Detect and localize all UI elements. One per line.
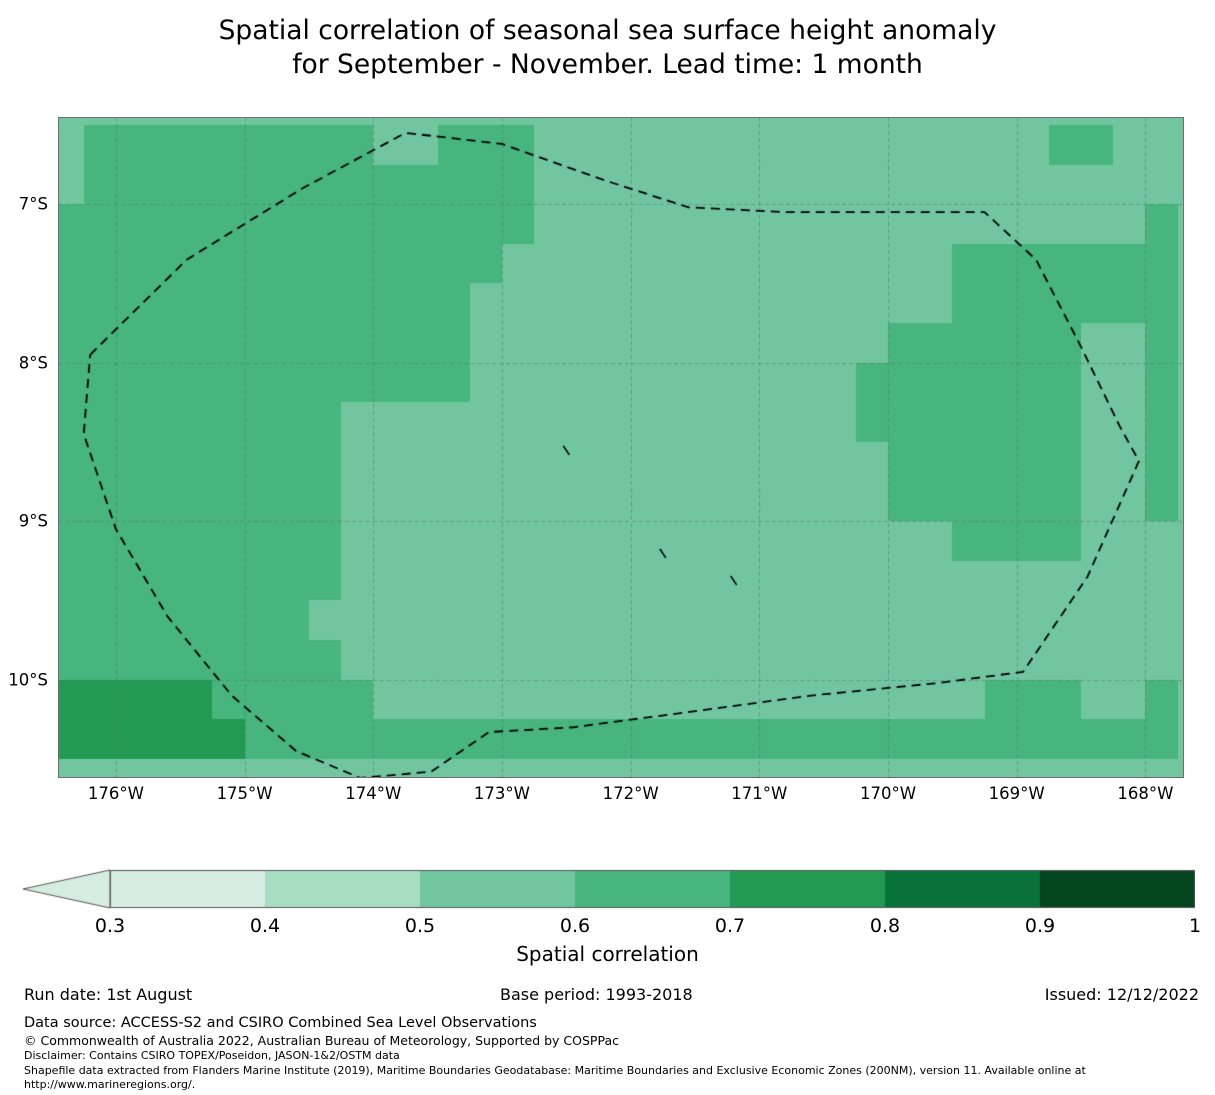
colorbar-tick-label: 0.6: [560, 915, 590, 937]
colorbar-tick-label: 0.8: [870, 915, 900, 937]
disclaimer-text: Disclaimer: Contains CSIRO TOPEX/Poseido…: [24, 1049, 1204, 1064]
x-axis-tick-label: 171°W: [731, 784, 787, 803]
y-axis-tick-label: 10°S: [8, 670, 48, 689]
title-line-1: Spatial correlation of seasonal sea surf…: [0, 14, 1215, 48]
colorbar-tick-label: 1: [1189, 915, 1201, 937]
y-axis-tick-label: 7°S: [19, 195, 48, 214]
colorbar-tick-label: 0.9: [1025, 915, 1055, 937]
x-axis-tick-label: 169°W: [989, 784, 1045, 803]
y-axis-tick-label: 9°S: [19, 512, 48, 531]
colorbar-tick-label: 0.3: [95, 915, 125, 937]
title-line-2: for September - November. Lead time: 1 m…: [0, 48, 1215, 82]
data-source-text: Data source: ACCESS-S2 and CSIRO Combine…: [24, 1014, 1204, 1033]
issued-date-text: Issued: 12/12/2022: [1045, 985, 1199, 1004]
x-axis-tick-label: 175°W: [217, 784, 273, 803]
metadata-row: Run date: 1st August Base period: 1993-2…: [0, 985, 1215, 1009]
colorbar-tick-label: 0.5: [405, 915, 435, 937]
x-axis-tick-label: 173°W: [474, 784, 530, 803]
shapefile-credit-line-2: http://www.marineregions.org/.: [24, 1078, 1204, 1093]
footer-block: Data source: ACCESS-S2 and CSIRO Combine…: [24, 1014, 1204, 1093]
shapefile-credit-line-1: Shapefile data extracted from Flanders M…: [24, 1064, 1204, 1079]
figure-root: Spatial correlation of seasonal sea surf…: [0, 0, 1215, 1095]
colorbar-gradient: [20, 868, 1195, 910]
colorbar-label: Spatial correlation: [0, 942, 1215, 966]
correlation-heatmap-canvas: [58, 117, 1184, 778]
colorbar-tick-label: 0.4: [250, 915, 280, 937]
x-axis-tick-label: 172°W: [603, 784, 659, 803]
run-date-text: Run date: 1st August: [24, 985, 192, 1004]
x-axis-tick-label: 168°W: [1117, 784, 1173, 803]
x-axis-tick-label: 170°W: [860, 784, 916, 803]
map-plot-area: [58, 117, 1184, 778]
y-axis-tick-label: 8°S: [19, 353, 48, 372]
colorbar-tick-label: 0.7: [715, 915, 745, 937]
x-axis-tick-label: 176°W: [88, 784, 144, 803]
x-axis-tick-label: 174°W: [345, 784, 401, 803]
colorbar: Spatial correlation 0.30.40.50.60.70.80.…: [0, 860, 1215, 965]
base-period-text: Base period: 1993-2018: [500, 985, 693, 1004]
page-title: Spatial correlation of seasonal sea surf…: [0, 14, 1215, 82]
copyright-text: © Commonwealth of Australia 2022, Austra…: [24, 1033, 1204, 1049]
